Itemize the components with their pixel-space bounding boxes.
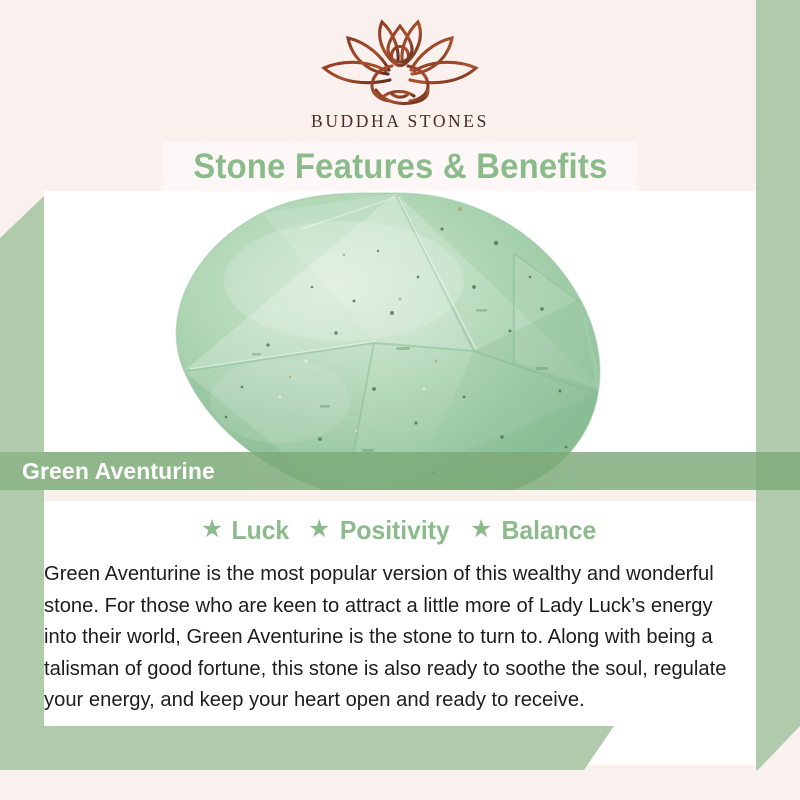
keyword-label: Positivity <box>340 517 450 543</box>
lotus-meditation-icon <box>314 16 486 108</box>
content-panel: ★ Luck ★ Positivity ★ Balance Green Aven… <box>44 501 756 765</box>
page-title: Stone Features & Benefits <box>193 149 607 184</box>
band-underline <box>44 490 756 501</box>
star-icon: ★ <box>308 517 330 542</box>
keyword-item: ★ Positivity <box>308 517 453 543</box>
keyword-item: ★ Luck <box>201 517 291 543</box>
frame-right-bar <box>756 0 800 770</box>
footer-strip <box>0 770 800 800</box>
frame-bottom-bar <box>0 726 614 770</box>
keyword-item: ★ Balance <box>470 517 599 543</box>
brand-logo: BUDDHA STONES <box>44 16 756 132</box>
infographic-page: BUDDHA STONES Stone Features & Benefits <box>0 0 800 800</box>
stone-description: Green Aventurine is the most popular ver… <box>44 558 748 716</box>
star-icon: ★ <box>201 517 223 542</box>
title-banner: Stone Features & Benefits <box>163 142 637 191</box>
keyword-label: Luck <box>232 517 290 543</box>
brand-name: BUDDHA STONES <box>311 111 489 132</box>
star-icon: ★ <box>470 517 492 542</box>
stone-name: Green Aventurine <box>22 452 215 490</box>
frame-left-bar <box>0 196 44 800</box>
keyword-label: Balance <box>502 517 597 543</box>
keyword-list: ★ Luck ★ Positivity ★ Balance <box>44 517 756 543</box>
